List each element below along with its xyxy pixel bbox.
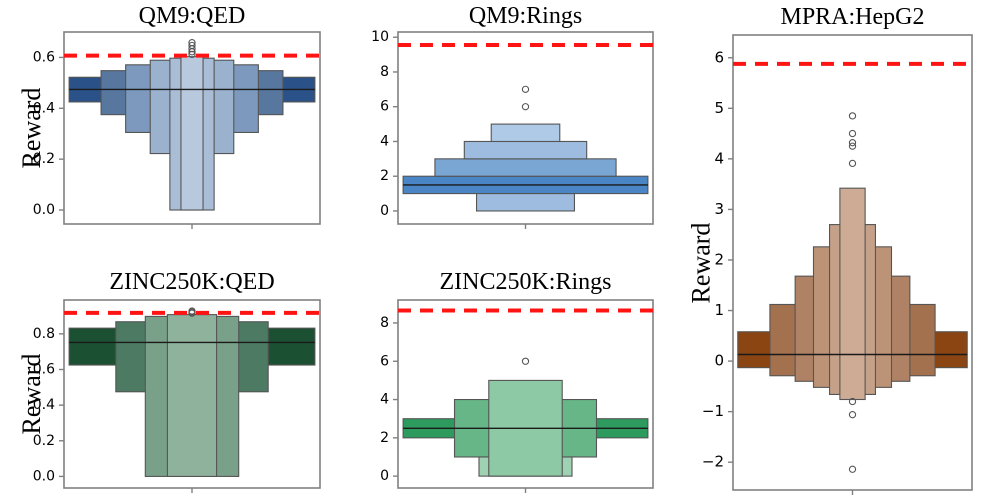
plot-area-zinc250k-rings: 02468 xyxy=(0,0,997,504)
panel-zinc250k-rings: ZINC250K:Rings02468 xyxy=(0,0,997,504)
y-tick-label: 4 xyxy=(380,392,389,408)
y-tick-label: 0 xyxy=(380,468,389,484)
figure-canvas: QM9:QEDReward0.00.20.40.6QM9:Rings024681… xyxy=(0,0,997,504)
y-tick-label: 6 xyxy=(380,353,389,369)
y-tick-label: 8 xyxy=(380,315,389,331)
y-tick-label: 2 xyxy=(380,430,389,446)
